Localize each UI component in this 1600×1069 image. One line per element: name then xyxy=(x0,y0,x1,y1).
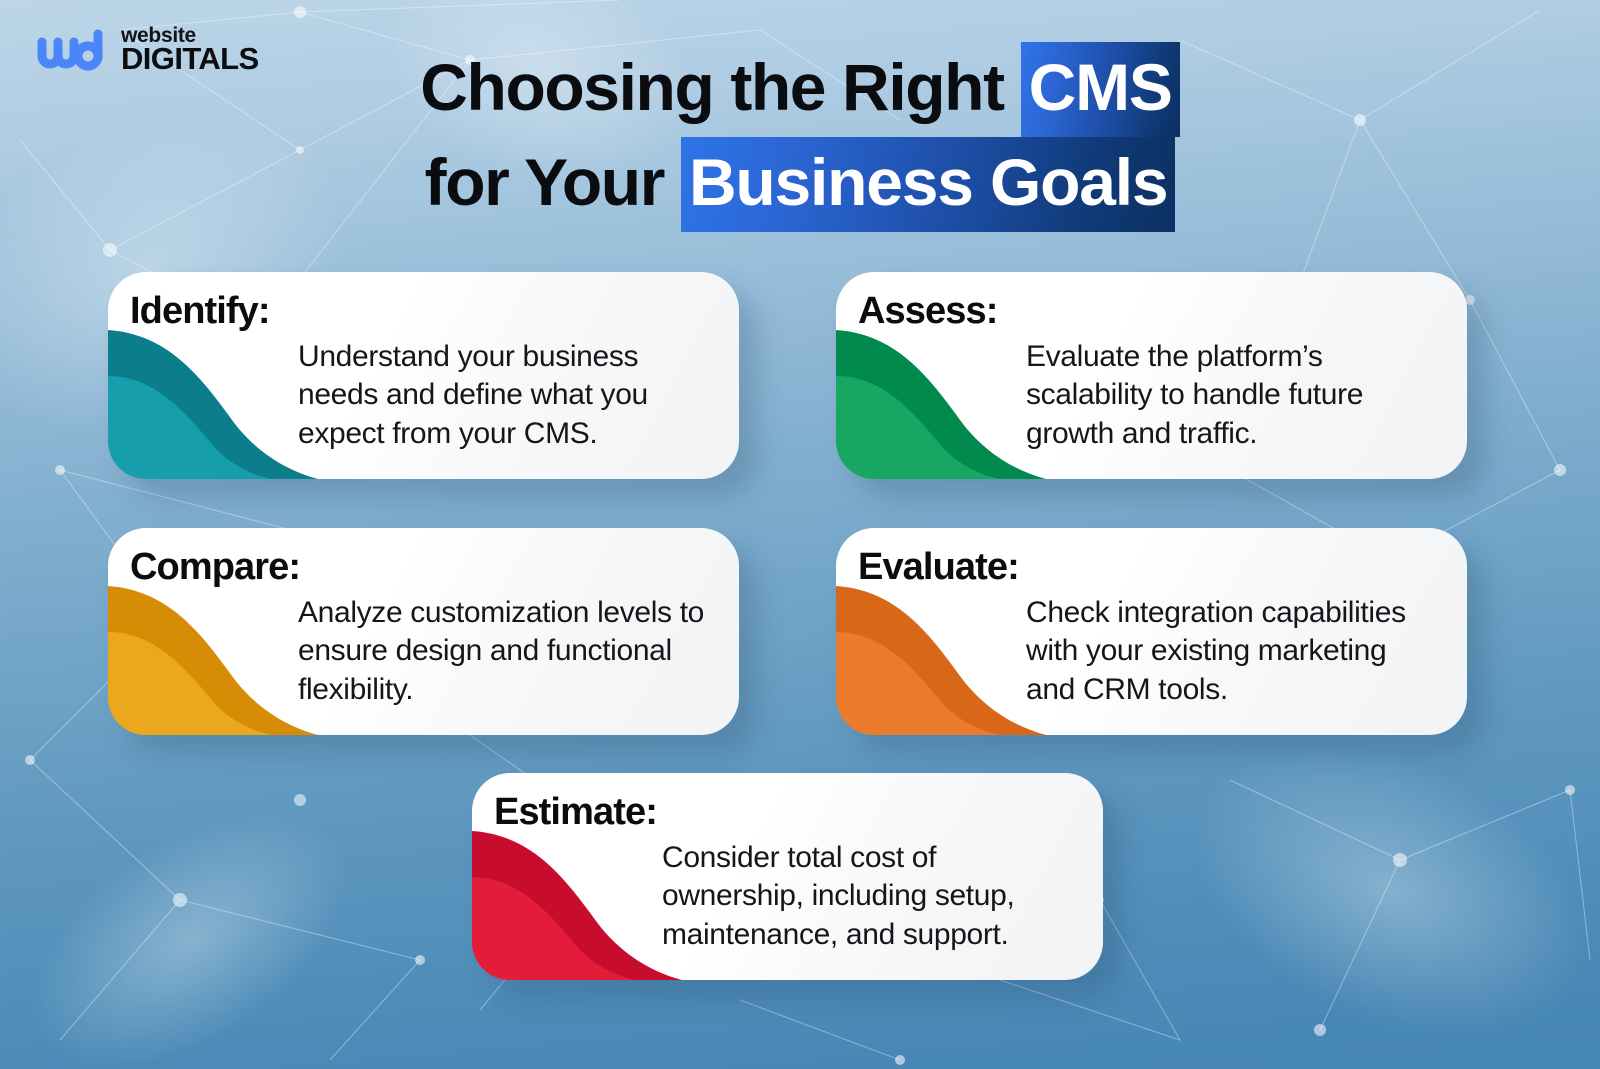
title-line-1: Choosing the Right CMS xyxy=(0,42,1600,137)
title-line-2: for Your Business Goals xyxy=(0,137,1600,232)
card-description: Evaluate the platform’s scalability to h… xyxy=(1026,338,1441,453)
title-highlight-business-goals: Business Goals xyxy=(681,137,1175,232)
card-content: Identify: Understand your business needs… xyxy=(108,272,739,479)
step-card-assess: Assess: Evaluate the platform’s scalabil… xyxy=(836,272,1467,479)
card-content: Compare: Analyze customization levels to… xyxy=(108,528,739,735)
step-card-evaluate: Evaluate: Check integration capabilities… xyxy=(836,528,1467,735)
title-highlight-cms: CMS xyxy=(1021,42,1180,137)
light-streak-decoration xyxy=(1145,686,1600,1069)
title-line-2-plain: for Your xyxy=(425,145,681,219)
step-card-identify: Identify: Understand your business needs… xyxy=(108,272,739,479)
card-content: Evaluate: Check integration capabilities… xyxy=(836,528,1467,735)
card-title: Evaluate: xyxy=(858,548,1441,588)
card-content: Assess: Evaluate the platform’s scalabil… xyxy=(836,272,1467,479)
step-card-compare: Compare: Analyze customization levels to… xyxy=(108,528,739,735)
title-line-1-plain: Choosing the Right xyxy=(420,50,1020,124)
card-description: Analyze customization levels to ensure d… xyxy=(298,594,713,709)
card-content: Estimate: Consider total cost of ownersh… xyxy=(472,773,1103,980)
card-description: Consider total cost of ownership, includ… xyxy=(662,839,1077,954)
card-title: Estimate: xyxy=(494,793,1077,833)
card-description: Check integration capabilities with your… xyxy=(1026,594,1441,709)
infographic-poster: website DIGITALS Choosing the Right CMS … xyxy=(0,0,1600,1069)
light-streak-decoration xyxy=(0,756,395,1069)
card-description: Understand your business needs and defin… xyxy=(298,338,713,453)
card-title: Compare: xyxy=(130,548,713,588)
card-title: Identify: xyxy=(130,292,713,332)
page-title: Choosing the Right CMS for Your Business… xyxy=(0,42,1600,232)
step-card-estimate: Estimate: Consider total cost of ownersh… xyxy=(472,773,1103,980)
card-title: Assess: xyxy=(858,292,1441,332)
